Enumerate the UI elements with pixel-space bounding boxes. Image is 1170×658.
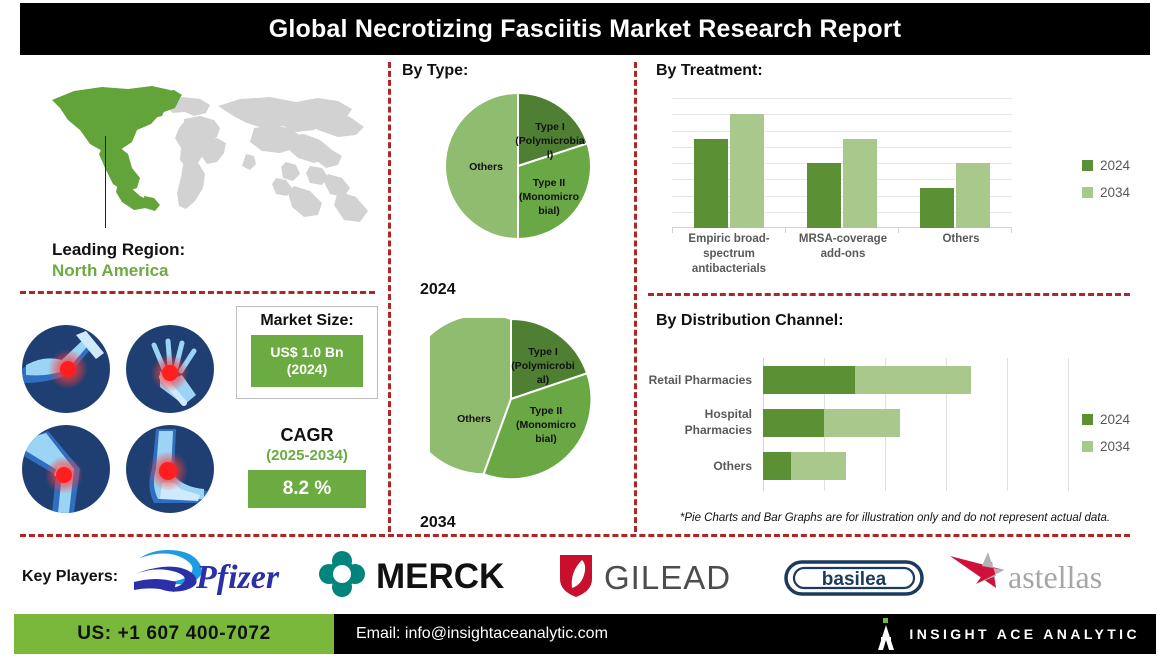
key-players-label: Key Players: bbox=[22, 568, 118, 586]
header-bar: Global Necrotizing Fasciitis Market Rese… bbox=[20, 3, 1150, 55]
cagr-title: CAGR bbox=[236, 425, 378, 446]
footer-bar: US: +1 607 400-7072 Email: info@insighta… bbox=[14, 614, 1156, 654]
svg-text:astellas: astellas bbox=[1008, 559, 1102, 595]
legend-item-2024: 2024 bbox=[1082, 412, 1130, 427]
bar-2034 bbox=[730, 114, 764, 228]
pie-2024-label-type1-l2: (Polymicrobia bbox=[515, 135, 585, 147]
pie-2024-label-type2-l3: bial) bbox=[538, 205, 560, 217]
pie-2024-label-type1-l3: l) bbox=[547, 149, 553, 161]
distribution-category-labels: Retail Pharmacies Hospital Pharmacies Ot… bbox=[630, 358, 758, 491]
hbar-category-label: Hospital Pharmacies bbox=[632, 406, 752, 438]
market-size-year: (2024) bbox=[287, 361, 327, 379]
logo-astellas: astellas bbox=[946, 550, 1146, 598]
footer-phone[interactable]: US: +1 607 400-7072 bbox=[14, 614, 334, 654]
logo-basilea: basilea bbox=[784, 558, 924, 598]
footer-brand: INSIGHT ACE ANALYTIC bbox=[875, 618, 1140, 650]
bar-group bbox=[807, 139, 877, 228]
pie-2024-year-label: 2024 bbox=[420, 281, 456, 299]
hbar-row bbox=[763, 452, 846, 480]
bar-group bbox=[920, 163, 990, 228]
svg-text:GILEAD: GILEAD bbox=[604, 559, 731, 596]
gridline bbox=[672, 98, 1012, 99]
hbar-segment-2034 bbox=[855, 366, 971, 394]
pie-2024-label-others: Others bbox=[469, 161, 503, 173]
pie-chart-2024: Type I (Polymicrobia l) Type II (Monomic… bbox=[444, 92, 592, 240]
bar-category-label: MRSA-coverage add-ons bbox=[778, 232, 908, 262]
bar-2024 bbox=[694, 139, 728, 228]
pie-2034-label-type2-l1: Type II bbox=[530, 405, 563, 417]
hbar-row bbox=[763, 409, 900, 437]
logo-gilead: GILEAD bbox=[556, 551, 751, 599]
distribution-bar-chart bbox=[763, 358, 1068, 491]
pie-2034-label-type1-l3: al) bbox=[537, 374, 549, 386]
legend-item-2034: 2034 bbox=[1082, 185, 1130, 200]
hbar-segment-2034 bbox=[791, 452, 846, 480]
treatment-bar-chart bbox=[672, 98, 1012, 228]
legend-item-2034: 2034 bbox=[1082, 439, 1130, 454]
footer-brand-text: INSIGHT ACE ANALYTIC bbox=[909, 626, 1140, 642]
section-title-by-distribution: By Distribution Channel: bbox=[656, 312, 844, 330]
elbow-joint-pain-icon bbox=[22, 325, 110, 413]
pie-2024-label-type2-l2: (Monomicro bbox=[519, 191, 579, 203]
pie-chart-2034: Type I (Polymicrobi al) Type II (Monomic… bbox=[430, 318, 592, 480]
section-title-by-type: By Type: bbox=[402, 62, 468, 80]
knee-joint-pain-icon bbox=[22, 425, 110, 513]
svg-text:Pfizer: Pfizer bbox=[195, 559, 280, 596]
hbar-segment-2024 bbox=[763, 366, 855, 394]
bar-2024 bbox=[920, 188, 954, 228]
divider-vertical-left bbox=[388, 62, 391, 532]
legend-swatch-2034 bbox=[1082, 187, 1093, 198]
legend-item-2024: 2024 bbox=[1082, 158, 1130, 173]
hbar-segment-2034 bbox=[824, 409, 900, 437]
logo-pfizer: Pfizer bbox=[130, 548, 300, 600]
logo-merck: MERCK bbox=[318, 550, 518, 598]
cagr-years: (2025-2034) bbox=[236, 447, 378, 464]
gridline bbox=[1068, 358, 1069, 491]
divider-horizontal-bottom bbox=[20, 534, 1130, 537]
legend-swatch-2024 bbox=[1082, 414, 1093, 425]
page-title: Global Necrotizing Fasciitis Market Rese… bbox=[269, 15, 902, 44]
divider-horizontal-left bbox=[20, 291, 375, 294]
hbar-category-label: Retail Pharmacies bbox=[632, 372, 752, 388]
market-size-value-badge: US$ 1.0 Bn (2024) bbox=[251, 335, 363, 387]
infographic-page: Global Necrotizing Fasciitis Market Rese… bbox=[0, 0, 1170, 658]
footer-email[interactable]: Email: info@insightaceanalytic.com bbox=[356, 625, 608, 643]
ankle-joint-pain-icon bbox=[126, 425, 214, 513]
pie-2034-label-type1-l1: Type I bbox=[528, 346, 558, 358]
leading-region-label: Leading Region: bbox=[52, 239, 185, 260]
legend-label-2034: 2034 bbox=[1100, 439, 1130, 454]
legend-label-2024: 2024 bbox=[1100, 158, 1130, 173]
leading-region-value: North America bbox=[52, 260, 185, 282]
section-title-by-treatment: By Treatment: bbox=[656, 62, 763, 80]
gridline bbox=[1007, 358, 1008, 491]
hand-joint-pain-icon bbox=[126, 325, 214, 413]
joint-illustrations bbox=[22, 325, 222, 517]
world-map bbox=[18, 66, 376, 231]
bar-2034 bbox=[956, 163, 990, 228]
market-size-box: Market Size: US$ 1.0 Bn (2024) bbox=[236, 306, 378, 399]
hbar-segment-2024 bbox=[763, 452, 791, 480]
hbar-segment-2024 bbox=[763, 409, 824, 437]
pie-2034-label-type1-l2: (Polymicrobi bbox=[511, 360, 575, 372]
bar-group bbox=[694, 114, 764, 228]
insight-ace-a-logo-icon bbox=[875, 618, 897, 650]
legend-swatch-2024 bbox=[1082, 160, 1093, 171]
divider-horizontal-right bbox=[648, 293, 1130, 296]
pie-2034-label-others: Others bbox=[457, 413, 491, 425]
cagr-value-badge: 8.2 % bbox=[248, 470, 366, 508]
treatment-chart-legend: 2024 2034 bbox=[1082, 158, 1130, 212]
map-leader-line bbox=[105, 136, 106, 228]
pie-2024-label-type1-l1: Type I bbox=[535, 121, 565, 133]
chart-footnote: *Pie Charts and Bar Graphs are for illus… bbox=[660, 512, 1130, 524]
pie-2034-label-type2-l2: (Monomicro bbox=[516, 419, 576, 431]
market-size-title: Market Size: bbox=[260, 312, 353, 330]
pie-2034-label-type2-l3: bial) bbox=[535, 433, 557, 445]
svg-text:MERCK: MERCK bbox=[376, 557, 504, 596]
treatment-category-labels: Empiric broad- spectrum antibacterials M… bbox=[672, 232, 1012, 284]
cagr-block: CAGR (2025-2034) 8.2 % bbox=[236, 425, 378, 508]
pie-2024-label-type2-l1: Type II bbox=[533, 177, 566, 189]
hbar-category-label: Others bbox=[632, 458, 752, 474]
legend-label-2034: 2034 bbox=[1100, 185, 1130, 200]
legend-swatch-2034 bbox=[1082, 441, 1093, 452]
hbar-row bbox=[763, 366, 971, 394]
market-size-value: US$ 1.0 Bn bbox=[270, 344, 343, 362]
bar-category-label: Others bbox=[896, 232, 1026, 247]
bar-2024 bbox=[807, 163, 841, 228]
leading-region-block: Leading Region: North America bbox=[52, 239, 185, 282]
distribution-chart-legend: 2024 2034 bbox=[1082, 412, 1130, 466]
footer-right: Email: info@insightaceanalytic.com INSIG… bbox=[334, 614, 1156, 654]
svg-text:basilea: basilea bbox=[822, 569, 887, 590]
bar-category-label: Empiric broad- spectrum antibacterials bbox=[664, 232, 794, 277]
bar-2034 bbox=[843, 139, 877, 228]
legend-label-2024: 2024 bbox=[1100, 412, 1130, 427]
pie-2034-year-label: 2034 bbox=[420, 514, 456, 532]
